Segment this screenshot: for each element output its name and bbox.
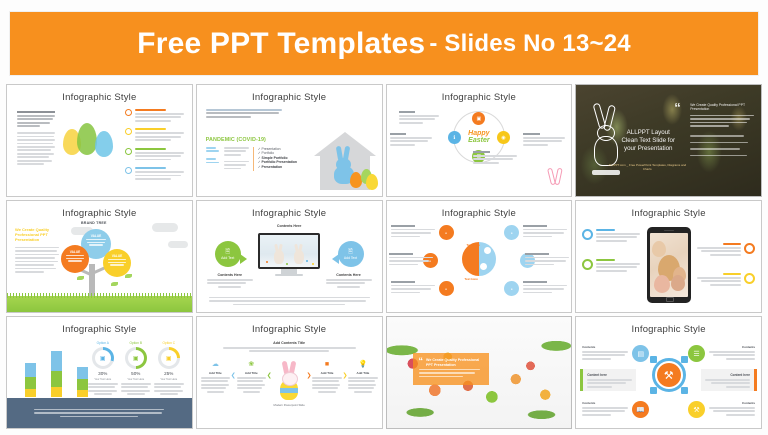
text-line <box>399 122 423 124</box>
text-line <box>582 358 611 360</box>
option-text-4 <box>523 225 567 239</box>
text-line <box>224 147 249 149</box>
confetti-dot <box>266 261 268 263</box>
bunny-head <box>282 372 298 386</box>
text-line <box>209 297 370 298</box>
option-text-3 <box>391 281 435 295</box>
slide-title: Infographic Style <box>387 208 572 219</box>
caption-title: Contents Here <box>326 273 372 277</box>
stacked-bar-chart: Text 1 Text 2 Text 3 <box>21 345 93 403</box>
gear-tooth <box>681 387 688 394</box>
text-line <box>348 387 374 389</box>
text-line <box>224 161 249 163</box>
text-line <box>154 390 183 392</box>
text-line <box>596 233 640 235</box>
text-line <box>237 387 263 389</box>
text-line <box>690 135 744 137</box>
text-line <box>390 137 432 139</box>
content-title: Contents <box>709 401 755 405</box>
slide-title: Infographic Style <box>387 92 572 103</box>
quote-mark-icon: “ <box>674 103 681 113</box>
text-line <box>390 144 415 146</box>
option-title <box>525 253 549 255</box>
text-line <box>701 280 741 282</box>
bullet-icon <box>125 109 132 116</box>
text-line <box>135 132 184 134</box>
text-line <box>17 146 55 148</box>
text-line <box>17 111 55 113</box>
content-circle-green[interactable]: ☰ <box>688 345 705 362</box>
step-column-3[interactable]: ■ Add Title <box>312 361 341 393</box>
option-icon <box>744 243 755 254</box>
grass-decoration <box>7 296 192 312</box>
text-line <box>201 377 230 379</box>
node-right[interactable]: ◉ <box>497 131 510 144</box>
monitor-foot <box>275 274 303 276</box>
text-line <box>127 393 145 395</box>
side-box-right[interactable]: Content here <box>701 369 757 391</box>
text-line <box>135 159 171 161</box>
text-line <box>523 292 552 294</box>
text-line <box>596 240 627 242</box>
text-line <box>135 113 184 115</box>
text-line <box>690 118 750 120</box>
top-label: Add Contents Title <box>223 341 356 345</box>
caption-right-block: Contents Here <box>326 273 372 288</box>
content-title: Contents <box>582 401 628 405</box>
text-line <box>209 300 367 301</box>
caption-top-left <box>399 111 439 125</box>
quote-overlay: “ We Create Quality Professional PPT Pre… <box>413 353 489 385</box>
option-text-2 <box>389 253 433 267</box>
egg-photo-element <box>671 275 685 291</box>
bullet-icon <box>125 128 132 135</box>
option-title <box>723 243 741 245</box>
donut-value: 30% <box>88 371 118 376</box>
text-line <box>206 116 252 118</box>
circle-title: VALUE <box>106 254 128 258</box>
donut-ring: ▣ <box>92 347 114 369</box>
egg-photo-element <box>654 275 670 293</box>
text-line <box>121 390 150 392</box>
text-line <box>348 380 375 382</box>
text-line <box>121 386 149 388</box>
text-line <box>17 136 54 138</box>
option-title <box>389 253 413 255</box>
caption-title <box>473 151 491 153</box>
option-icon <box>582 229 593 240</box>
text-line <box>154 386 182 388</box>
option-text-6 <box>523 281 567 295</box>
slide4-main-text: ALLPPT Layout Clean Text Slide for your … <box>620 129 676 153</box>
box-icon: ■ <box>312 361 341 369</box>
text-line <box>135 120 171 122</box>
cloud-icon: ☁ <box>201 361 230 369</box>
text-line <box>596 270 627 272</box>
checklist: ✓ Presentation ✓ Portfolio ✓ Simple Port… <box>253 147 294 171</box>
circle-title: VALUE <box>64 250 86 254</box>
bar-column: Text 1 <box>25 363 36 397</box>
option-text-5 <box>525 253 569 267</box>
slide-thumbnail-2[interactable]: Infographic Style PANDEMIC (COVID-19) <box>196 84 383 197</box>
bubble-label: Add Text <box>344 256 357 260</box>
text-line <box>66 258 83 259</box>
slide4-quote-block: We Create Quality Professional PPT Prese… <box>690 103 754 129</box>
bar-segment <box>25 363 36 377</box>
center-bunny-illustration: Modern Powerpoint Slide <box>273 361 306 407</box>
screen-photo <box>260 235 318 267</box>
text-line <box>15 271 44 273</box>
content-text-top-right: Contents <box>709 345 755 361</box>
step-title: Add Title <box>201 371 230 375</box>
text-line <box>389 264 418 266</box>
text-line <box>15 247 59 249</box>
text-line <box>15 257 55 259</box>
caption-right <box>523 133 565 147</box>
option-circle-1[interactable]: ● <box>439 225 454 240</box>
slide6-footer-text <box>209 297 370 305</box>
center-label-bottom: Text Here <box>465 277 478 281</box>
text-line <box>389 260 429 262</box>
text-line <box>206 109 282 111</box>
step-column-1[interactable]: ☁ Add Title <box>201 361 230 393</box>
text-line <box>697 247 741 249</box>
slide10-columns: ☁ Add Title ❮ ❀ Add Title <box>201 361 378 407</box>
text-line <box>473 158 513 160</box>
text-line <box>312 387 338 389</box>
text-line <box>523 137 565 139</box>
text-line <box>523 285 567 287</box>
text-line <box>726 386 750 388</box>
text-line <box>596 236 636 238</box>
text-line <box>337 286 360 288</box>
text-line <box>154 383 184 385</box>
monitor-screen <box>258 233 320 269</box>
speech-bubble-left[interactable]: 🖹 Add Text <box>215 241 241 267</box>
happy-text: Happy <box>468 130 489 137</box>
bunny-ear <box>555 168 563 186</box>
text-line <box>525 260 565 262</box>
text-line <box>108 259 127 260</box>
text-line <box>15 268 56 270</box>
text-line <box>523 144 548 146</box>
speech-bubble-right[interactable]: 🖹 Add Text <box>338 241 364 267</box>
rabbit-icon <box>274 250 284 264</box>
option-callout-b[interactable] <box>582 259 640 273</box>
text-line <box>66 255 85 256</box>
option-text-1 <box>391 225 435 239</box>
confetti-dot <box>306 260 308 262</box>
orange-egg-icon <box>350 172 362 188</box>
text-line <box>224 154 241 156</box>
yin-dot <box>484 247 491 254</box>
text-line <box>525 264 554 266</box>
text-line <box>135 136 181 138</box>
slide2-columns: ✓ Presentation ✓ Portfolio ✓ Simple Port… <box>206 147 294 171</box>
slide-title: Infographic Style <box>7 324 192 335</box>
option-callout-d[interactable] <box>697 273 755 287</box>
arrow-icon: ❮ <box>266 361 273 391</box>
text-line <box>473 155 517 157</box>
slide-thumbnail-11[interactable]: “ We Create Quality Professional PPT Pre… <box>386 316 573 429</box>
text-line <box>17 160 52 162</box>
arrow-icon: ❮ <box>230 361 237 391</box>
text-line <box>110 264 123 265</box>
content-title: Contents <box>582 345 628 349</box>
option-icon <box>744 273 755 284</box>
slide-title: Infographic Style <box>197 208 382 219</box>
content-title: Contents <box>709 345 755 349</box>
checklist-item: ✓ Presentation <box>258 165 294 169</box>
slide-thumbnail-4[interactable]: ALLPPT Layout Clean Text Slide for your … <box>575 84 762 197</box>
text-line <box>89 244 103 245</box>
caption-title <box>390 133 407 135</box>
slide-thumbnail-10[interactable]: Infographic Style Add Contents Title ☁ A… <box>196 316 383 429</box>
option-title <box>723 273 741 275</box>
slide-thumbnail-9[interactable]: Infographic Style Text 1 Text 2 <box>6 316 193 429</box>
slide-thumbnail-7[interactable]: Infographic Style Text Here Text Here ● … <box>386 200 573 313</box>
text-line <box>523 229 567 231</box>
donut-center-icon: ▣ <box>161 350 177 366</box>
text-line <box>391 288 431 290</box>
donut-title: Option B <box>121 341 151 345</box>
donut-caption: Your Text Here <box>88 378 118 381</box>
donut-chart-c: Option C ▣ 25% Your Text Here <box>154 341 184 395</box>
header-subtitle: - Slides No 13~24 <box>429 30 631 58</box>
text-line <box>237 377 266 379</box>
text-line <box>711 382 750 384</box>
egg-photo-element <box>652 241 666 257</box>
text-line <box>15 254 59 256</box>
text-line <box>391 292 420 294</box>
slide1-left-text <box>17 111 55 167</box>
tree-circle-orange[interactable]: VALUE <box>61 245 89 273</box>
text-line <box>391 232 431 234</box>
option-callout-c[interactable] <box>697 243 755 257</box>
text-line <box>237 380 264 382</box>
text-line <box>135 152 184 154</box>
text-line <box>587 386 611 388</box>
donut-chart-b: Option B ▣ 50% Your Text Here <box>121 341 151 395</box>
content-text-bottom-left: Contents <box>582 401 628 417</box>
left-heading: We Create Quality Professional PPT Prese… <box>15 227 59 243</box>
text-line <box>17 139 55 141</box>
gear-tooth <box>650 387 657 394</box>
text-line <box>17 118 53 120</box>
step-title: Add Title <box>237 371 266 375</box>
text-line <box>709 351 755 353</box>
easter-text: Easter <box>468 137 489 144</box>
step-column-2[interactable]: ❀ Add Title <box>237 361 266 393</box>
text-line <box>201 384 229 386</box>
step-column-4[interactable]: 💡 Add Title <box>348 361 377 393</box>
gear-center-graphic: ⚒ <box>652 358 686 392</box>
option-title <box>391 281 415 283</box>
step-title: Add Title <box>348 371 377 375</box>
slide5-left-text: We Create Quality Professional PPT Prese… <box>15 227 59 274</box>
slide-title: Infographic Style <box>7 92 192 103</box>
text-line <box>223 347 356 349</box>
list-item <box>125 148 187 162</box>
bubble-label: Add Text <box>221 256 234 260</box>
box-title: Content here <box>705 373 750 377</box>
document-icon: 🖹 <box>348 249 353 255</box>
house-illustration <box>314 132 376 190</box>
text-line <box>582 354 624 356</box>
text-line <box>312 380 339 382</box>
slide-title: Infographic Style <box>197 324 382 335</box>
caption-bottom <box>473 151 517 165</box>
text-line <box>419 369 480 370</box>
side-box-left[interactable]: Content here <box>580 369 636 391</box>
slide-thumbnail-12[interactable]: Infographic Style ⚒ ▤ ☰ 📖 ⚒ Contents Con… <box>575 316 762 429</box>
text-line <box>690 115 754 117</box>
slide9-footer-band <box>7 398 192 428</box>
text-line <box>206 162 219 164</box>
text-line <box>587 379 632 381</box>
text-line <box>17 115 55 117</box>
pandemic-heading: PANDEMIC (COVID-19) <box>206 137 266 143</box>
text-line <box>523 236 552 238</box>
text-line <box>391 236 420 238</box>
text-line <box>705 379 750 381</box>
egg-stripe <box>280 388 298 393</box>
text-line <box>207 279 253 281</box>
text-line <box>399 115 439 117</box>
slide-title: Infographic Style <box>576 324 761 335</box>
item-title <box>135 109 166 111</box>
text-line <box>473 162 499 164</box>
slide-title: Infographic Style <box>576 208 761 219</box>
slide1-bullet-list <box>125 109 187 187</box>
text-line <box>399 118 436 120</box>
text-line <box>709 407 755 409</box>
text-line <box>391 285 435 287</box>
text-line <box>135 155 181 157</box>
text-line <box>224 164 246 166</box>
text-line <box>697 277 741 279</box>
option-callout-a[interactable] <box>582 229 640 243</box>
text-line <box>218 286 241 288</box>
item-title <box>135 128 166 130</box>
leaf-icon: ❀ <box>237 361 266 369</box>
node-left[interactable]: ℹ <box>448 131 461 144</box>
slide-thumbnail-1[interactable]: Infographic Style <box>6 84 193 197</box>
content-circle-blue[interactable]: ▤ <box>632 345 649 362</box>
item-title <box>135 148 166 150</box>
option-circle-6[interactable]: ● <box>504 281 519 296</box>
text-line <box>726 358 755 360</box>
text-line <box>201 387 227 389</box>
bar-segment <box>77 367 88 379</box>
text-line <box>15 264 54 266</box>
bar-segment <box>25 377 36 389</box>
text-line <box>135 139 171 141</box>
text-line <box>201 380 228 382</box>
header-banner: Free PPT Templates - Slides No 13~24 <box>10 12 758 75</box>
text-line <box>160 393 178 395</box>
text-line <box>713 410 755 412</box>
text-line <box>108 262 125 263</box>
blue-egg-icon <box>95 131 113 157</box>
text-line <box>17 153 54 155</box>
option-title <box>391 225 415 227</box>
donut-center-icon: ▣ <box>128 350 144 366</box>
tree-circle-yellow[interactable]: VALUE <box>103 249 131 277</box>
bunny-head <box>336 158 351 171</box>
quote-mark-icon: “ <box>419 358 424 365</box>
bar-segment <box>51 387 62 397</box>
slide-title: Infographic Style <box>197 92 382 103</box>
text-line <box>15 250 57 252</box>
text-line <box>419 372 475 373</box>
text-line <box>15 261 58 263</box>
option-circle-4[interactable]: ● <box>504 225 519 240</box>
text-line <box>207 282 247 284</box>
text-line <box>224 168 241 170</box>
list-item <box>125 167 187 181</box>
text-line <box>34 409 164 410</box>
option-circle-3[interactable]: ● <box>439 281 454 296</box>
text-line <box>233 304 346 305</box>
arrow-icon: ❯ <box>342 361 349 391</box>
list-item <box>125 109 187 123</box>
text-line <box>87 242 106 243</box>
content-circle-orange[interactable]: 📖 <box>632 401 649 418</box>
text-line <box>249 350 329 352</box>
bar-column: Text 3 <box>77 367 88 397</box>
quote-title: We Create Quality Professional PPT Prese… <box>690 103 754 112</box>
bar-segment <box>51 351 62 371</box>
green-egg-icon <box>77 123 97 155</box>
text-line <box>690 122 746 124</box>
center-label-top: Text Here <box>467 243 480 247</box>
content-circle-yellow[interactable]: ⚒ <box>688 401 705 418</box>
slide-thumbnail-8[interactable]: Infographic Style <box>575 200 762 313</box>
donut-value: 50% <box>121 371 151 376</box>
text-line <box>94 393 112 395</box>
text-line <box>121 383 151 385</box>
cloud-icon <box>152 223 178 232</box>
header-main-title: Free PPT Templates <box>137 27 425 61</box>
gear-tooth <box>681 356 688 363</box>
text-line <box>318 391 335 393</box>
leaf-icon <box>77 276 84 280</box>
smartphone-illustration <box>647 227 691 303</box>
text-line <box>596 266 636 268</box>
caption-title: Contents Here <box>207 273 253 277</box>
text-line <box>207 391 224 393</box>
text-line <box>726 414 755 416</box>
column-descriptions <box>224 147 249 171</box>
text-line <box>17 156 49 158</box>
text-line <box>326 279 372 281</box>
phone-home-button[interactable] <box>666 297 674 302</box>
happy-easter-logo: Happy Easter <box>468 130 489 144</box>
footer-text <box>34 409 164 417</box>
caption-left <box>390 133 432 147</box>
text-line <box>88 386 116 388</box>
bullet-icon <box>125 148 132 155</box>
text-line <box>88 390 117 392</box>
slide-thumbnail-6[interactable]: Infographic Style Contents Here <box>196 200 383 313</box>
text-line <box>710 254 741 256</box>
text-line <box>312 377 341 379</box>
donut-title: Option C <box>154 341 184 345</box>
slide-thumbnail-5[interactable]: Infographic Style BRAND TREE VALUE VALUE <box>6 200 193 313</box>
slide-thumbnail-3[interactable]: Infographic Style Happy Easter ▣ ◉ ☲ ℹ <box>386 84 573 197</box>
text-line <box>86 239 107 240</box>
